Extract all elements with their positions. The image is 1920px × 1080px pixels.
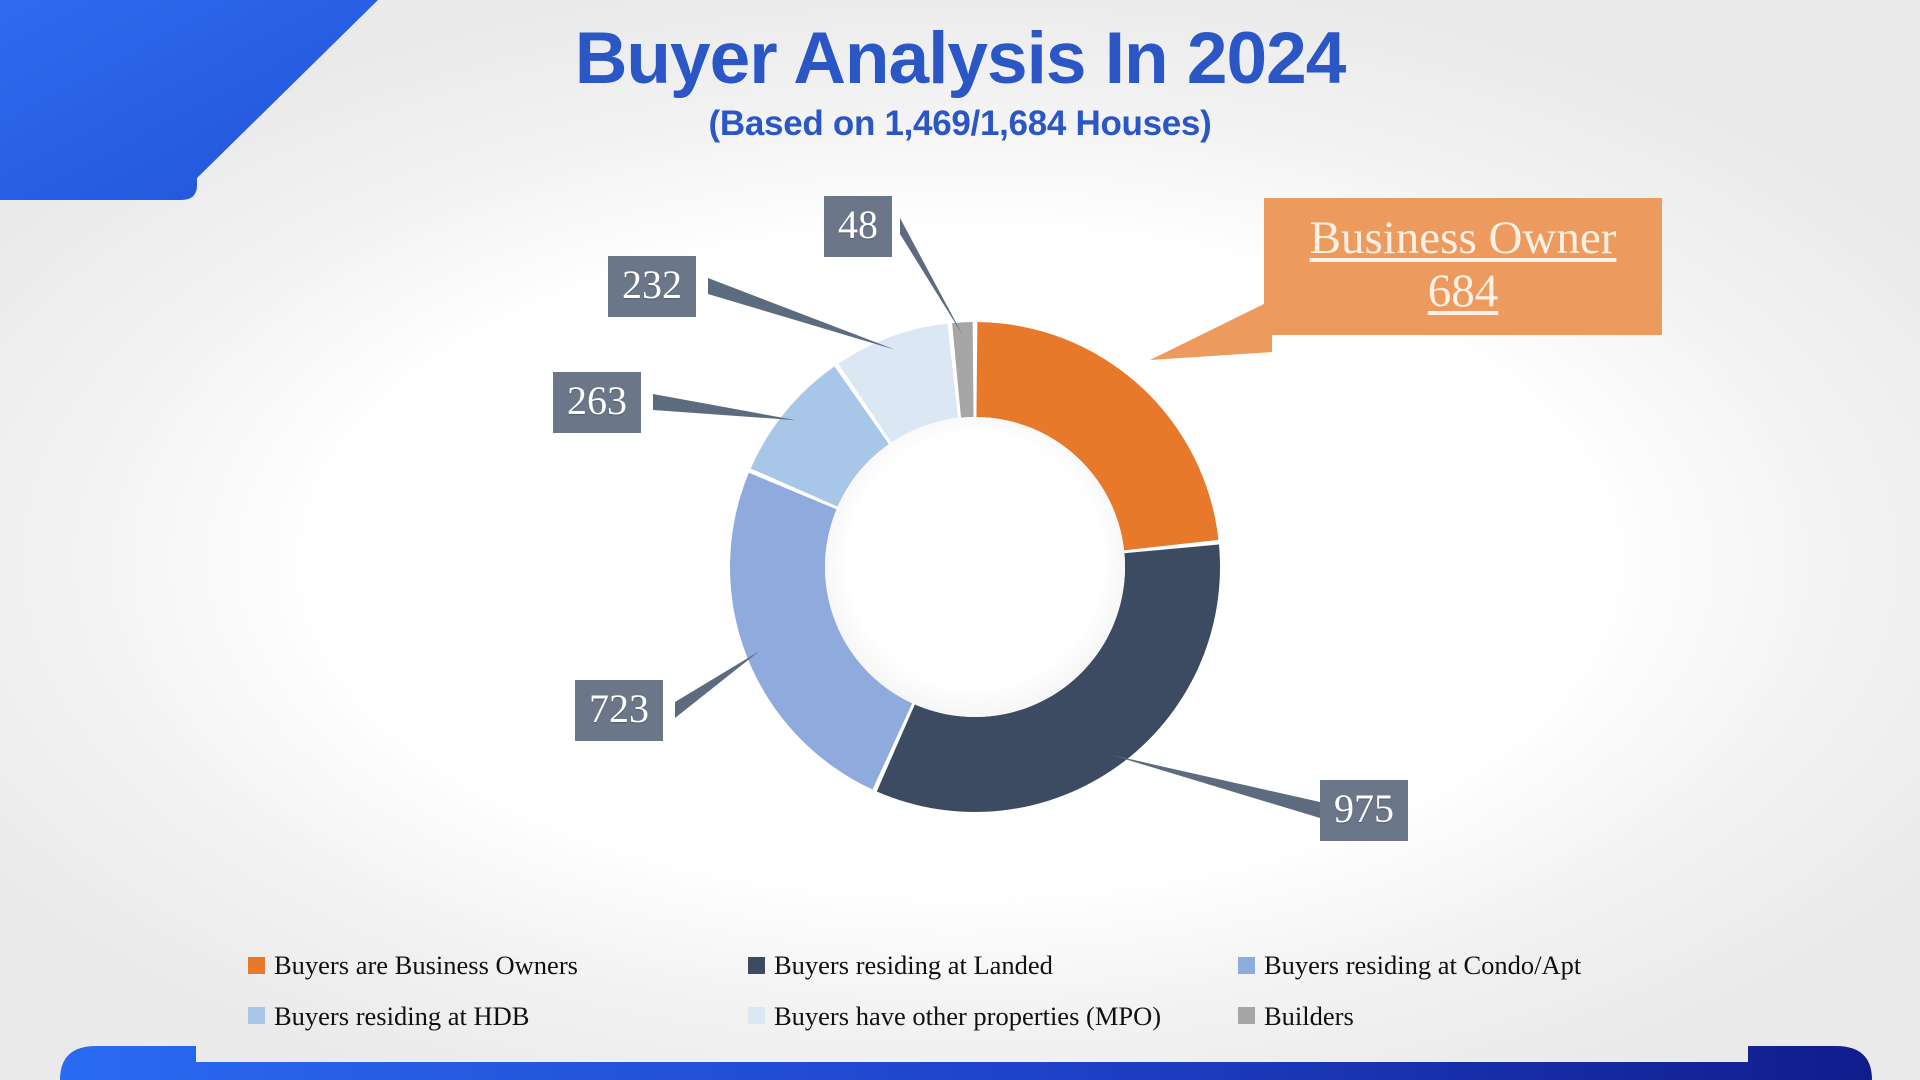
legend-swatch-icon xyxy=(748,957,765,974)
legend-label: Buyers residing at Landed xyxy=(774,952,1053,979)
legend-item[interactable]: Buyers have other properties (MPO) xyxy=(748,1003,1238,1030)
legend-item[interactable]: Buyers residing at Landed xyxy=(748,952,1238,979)
legend-label: Buyers have other properties (MPO) xyxy=(774,1003,1161,1030)
legend-item[interactable]: Buyers residing at HDB xyxy=(248,1003,748,1030)
legend-item[interactable]: Builders xyxy=(1238,1003,1668,1030)
legend-swatch-icon xyxy=(748,1007,765,1024)
highlight-value: 684 xyxy=(1274,265,1652,318)
legend-swatch-icon xyxy=(248,957,265,974)
chart-legend: Buyers are Business OwnersBuyers residin… xyxy=(248,952,1668,1029)
legend-label: Buyers are Business Owners xyxy=(274,952,578,979)
legend-swatch-icon xyxy=(1238,957,1255,974)
highlight-callout[interactable]: Business Owner 684 xyxy=(1264,198,1662,335)
legend-item[interactable]: Buyers residing at Condo/Apt xyxy=(1238,952,1668,979)
highlight-pointer xyxy=(1150,300,1272,360)
highlight-pointer-layer xyxy=(0,0,1920,1080)
legend-swatch-icon xyxy=(248,1007,265,1024)
legend-label: Buyers residing at Condo/Apt xyxy=(1264,952,1581,979)
legend-item[interactable]: Buyers are Business Owners xyxy=(248,952,748,979)
legend-label: Builders xyxy=(1264,1003,1354,1030)
highlight-label: Business Owner xyxy=(1274,212,1652,265)
legend-label: Buyers residing at HDB xyxy=(274,1003,529,1030)
legend-swatch-icon xyxy=(1238,1007,1255,1024)
